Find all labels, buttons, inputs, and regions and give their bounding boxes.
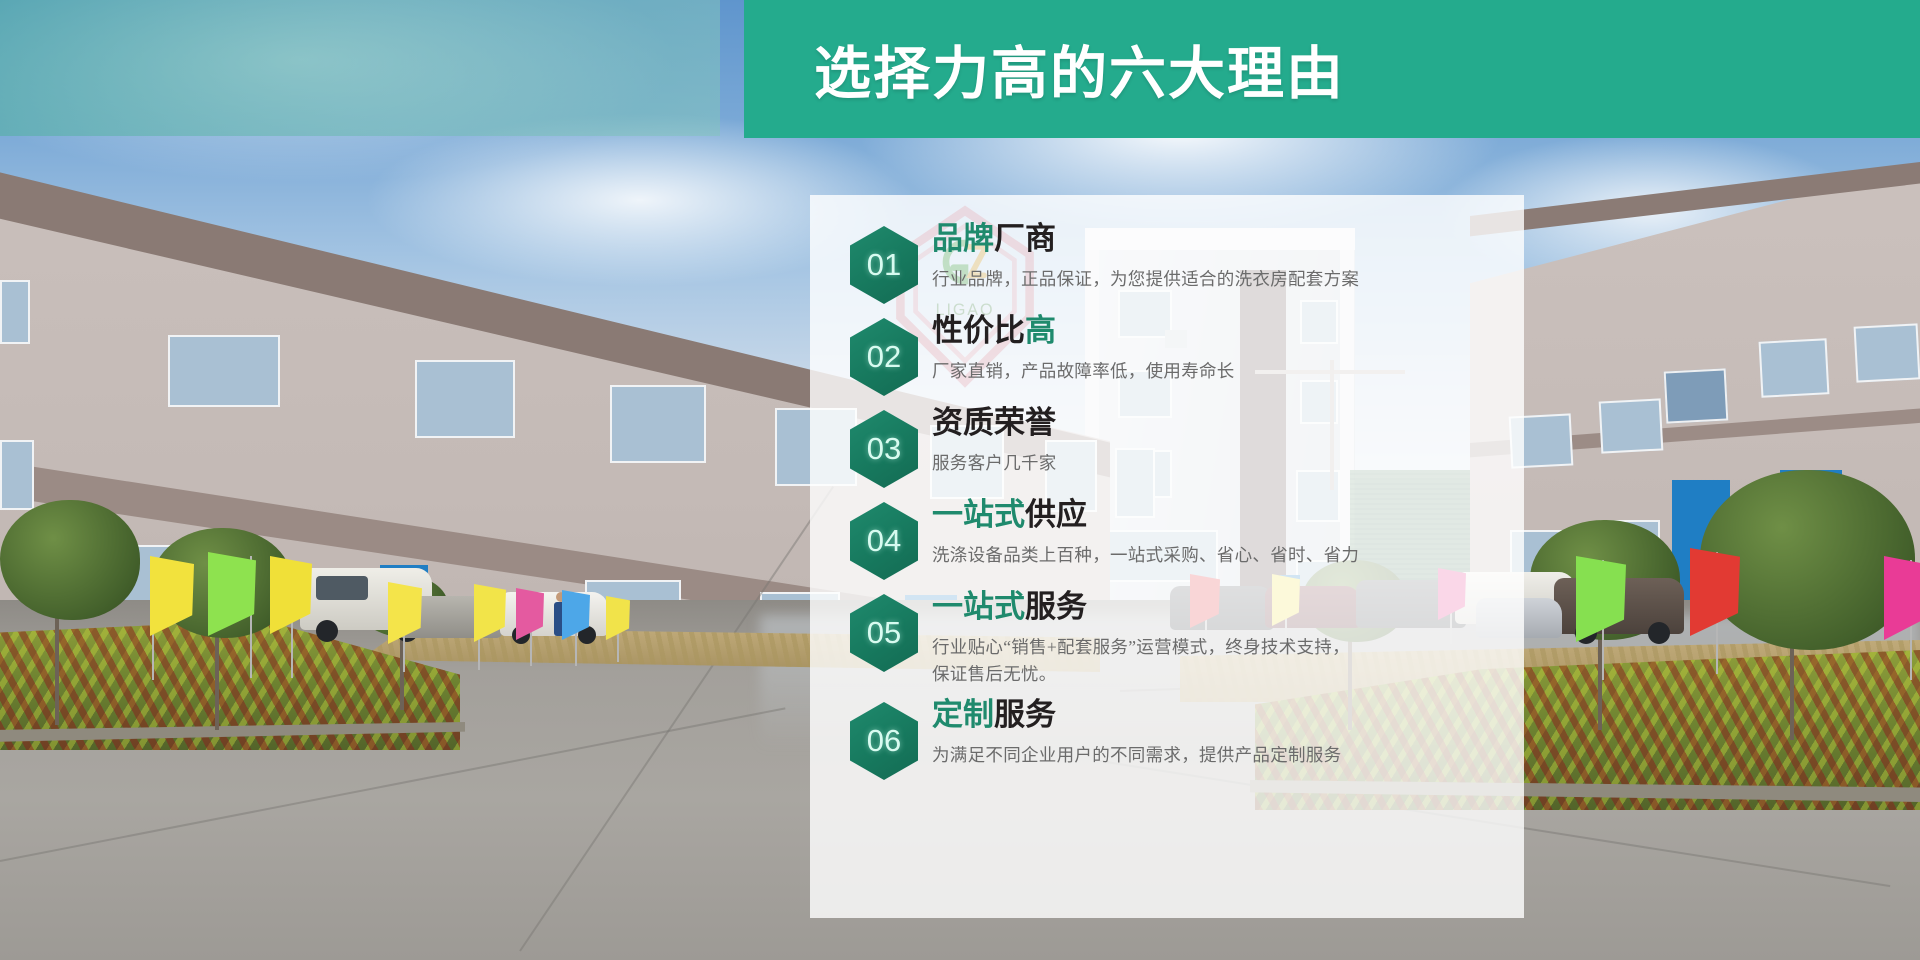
- reason-title-01: 品牌厂商: [932, 222, 1359, 257]
- reason-title-green: 品牌: [932, 221, 994, 256]
- reason-text-03: 资质荣誉 服务客户几千家: [932, 404, 1057, 477]
- reason-badge-wrap-01: 01: [850, 226, 918, 304]
- reason-description: 服务客户几千家: [932, 450, 1057, 477]
- hexagon-badge-icon: 05: [850, 594, 918, 672]
- hexagon-badge-icon: 04: [850, 502, 918, 580]
- page-title: 选择力高的六大理由: [814, 28, 1345, 110]
- reason-title-05: 一站式服务: [932, 590, 1350, 625]
- reason-item-03[interactable]: 03 资质荣誉 服务客户几千家: [850, 404, 1496, 488]
- reason-title-dark: 服务: [994, 697, 1056, 732]
- tree-canopy: [0, 500, 140, 620]
- reason-text-04: 一站式供应 洗涤设备品类上百种，一站式采购、省心、省时、省力: [932, 496, 1359, 569]
- reason-title-dark: 性价比: [932, 313, 1025, 348]
- reason-text-01: 品牌厂商 行业品牌，正品保证，为您提供适合的洗衣房配套方案: [932, 220, 1359, 293]
- reason-title-green: 定制: [932, 697, 994, 732]
- reason-text-02: 性价比高 厂家直销，产品故障率低，使用寿命长: [932, 312, 1235, 385]
- reason-title-02: 性价比高: [932, 314, 1235, 349]
- hexagon-badge-icon: 02: [850, 318, 918, 396]
- window: [1664, 368, 1729, 423]
- reason-number: 05: [867, 615, 901, 651]
- reason-item-06[interactable]: 06 定制服务 为满足不同企业用户的不同需求，提供产品定制服务: [850, 696, 1496, 780]
- reason-badge-wrap-03: 03: [850, 410, 918, 488]
- reason-number: 06: [867, 723, 901, 759]
- reason-description: 为满足不同企业用户的不同需求，提供产品定制服务: [932, 742, 1341, 769]
- reason-item-02[interactable]: 02 性价比高 厂家直销，产品故障率低，使用寿命长: [850, 312, 1496, 396]
- reason-number: 03: [867, 431, 901, 467]
- reason-title-03: 资质荣誉: [932, 406, 1057, 441]
- reason-item-04[interactable]: 04 一站式供应 洗涤设备品类上百种，一站式采购、省心、省时、省力: [850, 496, 1496, 580]
- window: [168, 335, 280, 407]
- hexagon-badge-icon: 01: [850, 226, 918, 304]
- window: [415, 360, 515, 438]
- window: [0, 440, 34, 510]
- reason-item-01[interactable]: 01 品牌厂商 行业品牌，正品保证，为您提供适合的洗衣房配套方案: [850, 220, 1496, 304]
- car-wheel: [316, 620, 338, 642]
- reason-title-04: 一站式供应: [932, 498, 1359, 533]
- reason-badge-wrap-02: 02: [850, 318, 918, 396]
- reason-title-green: 一站式: [932, 589, 1025, 624]
- window: [610, 385, 706, 463]
- car-wheel: [1648, 622, 1670, 644]
- car-window: [316, 576, 368, 600]
- reason-title-dark: 服务: [1025, 589, 1087, 624]
- reason-badge-wrap-06: 06: [850, 702, 918, 780]
- reason-title-dark: 供应: [1025, 497, 1087, 532]
- reason-description: 行业品牌，正品保证，为您提供适合的洗衣房配套方案: [932, 266, 1359, 293]
- reason-description: 行业贴心“销售+配套服务”运营模式，终身技术支持， 保证售后无忧。: [932, 634, 1350, 688]
- reason-description: 厂家直销，产品故障率低，使用寿命长: [932, 358, 1235, 385]
- window: [1854, 323, 1920, 382]
- hexagon-badge-icon: 06: [850, 702, 918, 780]
- reason-text-05: 一站式服务 行业贴心“销售+配套服务”运营模式，终身技术支持， 保证售后无忧。: [932, 588, 1350, 688]
- header-left-tint-overlay: [0, 0, 720, 136]
- reason-title-dark: 资质荣誉: [932, 405, 1056, 440]
- reason-title-green: 高: [1025, 313, 1056, 348]
- reason-title-green: 一站式: [932, 497, 1025, 532]
- reason-title-06: 定制服务: [932, 698, 1341, 733]
- window: [1759, 338, 1830, 397]
- hexagon-badge-icon: 03: [850, 410, 918, 488]
- reason-number: 01: [867, 247, 901, 283]
- reason-item-05[interactable]: 05 一站式服务 行业贴心“销售+配套服务”运营模式，终身技术支持， 保证售后无…: [850, 588, 1496, 688]
- reason-number: 04: [867, 523, 901, 559]
- reasons-list: 01 品牌厂商 行业品牌，正品保证，为您提供适合的洗衣房配套方案 02 性价比高…: [810, 195, 1524, 918]
- window: [1599, 398, 1664, 453]
- reason-number: 02: [867, 339, 901, 375]
- header-green-bar: 选择力高的六大理由: [744, 0, 1920, 138]
- reason-title-dark: 厂商: [994, 221, 1056, 256]
- reason-text-06: 定制服务 为满足不同企业用户的不同需求，提供产品定制服务: [932, 696, 1341, 769]
- reason-badge-wrap-05: 05: [850, 594, 918, 672]
- reason-description: 洗涤设备品类上百种，一站式采购、省心、省时、省力: [932, 542, 1359, 569]
- reasons-panel: LIGAO 01 品牌厂商 行业品牌，正品保证，为您提供适合的洗衣房配套方案 0…: [810, 195, 1524, 918]
- window: [0, 280, 30, 344]
- reason-badge-wrap-04: 04: [850, 502, 918, 580]
